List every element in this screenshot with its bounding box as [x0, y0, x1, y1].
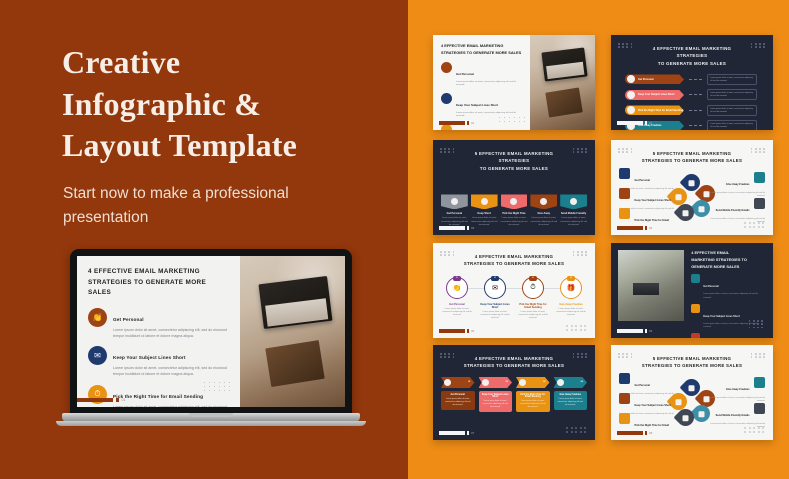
ring-item[interactable]: 01 👏 Get Personal Lorem ipsum dolor sit …	[441, 277, 473, 321]
dot-grid-decoration	[499, 117, 527, 122]
thumb3-title-line-1: 5 EFFECTIVE EMAIL MARKETING STRATEGIES	[461, 150, 567, 165]
thumb5-title-line-1: 4 EFFECTIVE EMAIL MARKETING	[463, 253, 565, 260]
featured-slide-title-line-2: STRATEGIES TO GENERATE MORE SALES	[88, 278, 230, 299]
ring-title: Give Away Freebies	[555, 303, 587, 306]
list-item: Get Personal Lorem ipsum dolor sit amet,…	[691, 274, 766, 299]
thumb2-title-line-1: 4 EFFECTIVE EMAIL MARKETING STRATEGIES	[641, 45, 743, 60]
progress-bar-tick	[645, 431, 647, 435]
mobile-icon	[754, 198, 765, 209]
thumbnail-5-title: 4 EFFECTIVE EMAIL MARKETING STRATEGIES T…	[441, 249, 587, 268]
left-item-3[interactable]: Pick the Right Time for Email Sending Lo…	[619, 413, 677, 440]
ribbon-item[interactable]: Keep Short Lorem ipsum dolor sit amet, c…	[471, 187, 498, 227]
page-number: 07	[471, 431, 474, 435]
mobile-icon	[683, 415, 689, 421]
handshake-icon	[689, 180, 695, 186]
ribbon-body: Lorem ipsum dolor sit amet, consectetur …	[560, 217, 587, 227]
ribbon-banner	[441, 194, 468, 209]
handshake-icon	[627, 75, 635, 83]
arrow-body: Lorem ipsum dolor sit amet, consectetur …	[519, 400, 547, 409]
thumbnail-1-title: 4 EFFECTIVE EMAIL MARKETING STRATEGIES T…	[441, 43, 524, 57]
laptop-foot	[56, 421, 366, 426]
pill-row: Get Personal Lorem ipsum dolor sit amet,…	[625, 74, 757, 85]
ribbon-title: Pick the Right Time	[501, 212, 528, 215]
gift-icon	[557, 379, 564, 386]
step-number: 01	[468, 381, 470, 383]
ribbon-banner	[501, 194, 528, 209]
ribbon-item[interactable]: Give Away Lorem ipsum dolor sit amet, co…	[530, 187, 557, 227]
slide-footer-bar: 08	[617, 431, 652, 435]
photo-laptop-object	[542, 48, 588, 81]
progress-bar	[77, 398, 113, 403]
thumbnail-grid: 4 EFFECTIVE EMAIL MARKETING STRATEGIES T…	[408, 0, 789, 479]
thumbnail-1[interactable]: 4 EFFECTIVE EMAIL MARKETING STRATEGIES T…	[433, 35, 595, 130]
progress-bar-tick	[116, 398, 119, 403]
list-item-body: Lorem ipsum dolor sit amet, consectetur …	[703, 293, 766, 299]
ring-circle: 04 🎁	[560, 277, 582, 299]
arrow-body: Lorem ipsum dolor sit amet, consectetur …	[482, 400, 510, 409]
thumbnail-2-title: 4 EFFECTIVE EMAIL MARKETING STRATEGIES T…	[619, 41, 765, 67]
arrow-box: Pick the Right Time for Email Sending Lo…	[516, 391, 550, 412]
hero-title-line-2: Infographic &	[62, 84, 392, 126]
progress-bar	[617, 121, 643, 125]
pill-item[interactable]: Get Personal	[625, 74, 684, 84]
desk-with-laptop-photo	[530, 35, 595, 130]
dot-grid-decoration	[573, 251, 588, 256]
mobile-icon	[683, 210, 689, 216]
hero-title-line-1: Creative	[62, 42, 392, 84]
laptop-screen: 4 EFFECTIVE EMAIL MARKETING STRATEGIES T…	[77, 256, 345, 407]
ring-body: Lorem ipsum dolor sit amet, consectetur …	[517, 311, 549, 321]
mail-icon	[482, 379, 489, 386]
thumb6-title-line-2: MARKETING STRATEGIES TO	[691, 257, 766, 264]
thumb7-title-line-1: 4 EFFECTIVE EMAIL MARKETING	[463, 355, 565, 362]
right-item-1[interactable]: Give Away Freebies Lorem ipsum dolor sit…	[707, 172, 765, 198]
list-item-title: Get Personal	[456, 72, 474, 76]
ring-item[interactable]: 03 ⏱ Pick the Right Time for Email Sendi…	[517, 277, 549, 321]
thumbnail-3[interactable]: 5 EFFECTIVE EMAIL MARKETING STRATEGIES T…	[433, 140, 595, 235]
arrow-item[interactable]: 04 Give Away Freebies Lorem ipsum dolor …	[554, 377, 588, 412]
ribbon-title: Give Away	[530, 212, 557, 215]
ring-title: Get Personal	[441, 303, 473, 306]
dot-grid-decoration	[618, 43, 633, 48]
item-title: Get Personal	[634, 384, 649, 387]
list-item-body: Lorem ipsum dolor sit amet, consectetur …	[456, 81, 524, 88]
clock-icon	[627, 106, 635, 114]
desk-with-laptop-photo	[240, 256, 345, 407]
hero-title-line-3: Layout Template	[62, 125, 392, 167]
thumb8-title-line-2: STRATEGIES TO GENERATE MORE SALES	[641, 362, 743, 369]
progress-bar	[439, 226, 465, 230]
text-box-body: Lorem ipsum dolor sit amet, consectetur …	[710, 123, 754, 129]
progress-bar-tick	[467, 121, 469, 125]
slide-footer-bar: 06	[617, 329, 652, 333]
slide-footer-bar: 05	[439, 329, 474, 333]
mail-icon: ✉	[88, 346, 107, 365]
ribbon-banner	[471, 194, 498, 209]
clock-icon	[691, 333, 700, 338]
thumb8-title-line-1: 5 EFFECTIVE EMAIL MARKETING	[641, 355, 743, 362]
progress-bar	[617, 329, 643, 333]
page-number: 01	[122, 398, 126, 402]
ribbon-title: Send Mobile Friendly	[560, 212, 587, 215]
ribbon-banner	[560, 194, 587, 209]
page-number: 03	[471, 226, 474, 230]
clock-icon	[510, 198, 517, 205]
mail-icon	[691, 304, 700, 313]
arrow-row: 01 Get Personal Lorem ipsum dolor sit am…	[441, 377, 587, 412]
dot-grid-decoration	[440, 251, 455, 256]
item-body: Lorem ipsum dolor sit amet, consectetur …	[707, 397, 765, 403]
progress-bar	[439, 329, 465, 333]
mail-icon	[481, 198, 488, 205]
mobile-icon	[754, 403, 765, 414]
arrow-box: Keep Your Subject Lines Short Lorem ipsu…	[479, 391, 513, 412]
progress-bar	[617, 226, 643, 230]
slide-footer-bar: 01	[77, 398, 126, 403]
progress-bar-tick	[645, 329, 647, 333]
list-item-title: Keep Your Subject Lines Short	[703, 315, 739, 318]
list-item-body: Lorem ipsum dolor sit amet, consectetur …	[113, 366, 230, 378]
pill-row: Pick the Right Time for Email Sending Lo…	[625, 105, 757, 116]
ring-title: Keep Your Subject Lines Short	[479, 303, 511, 309]
mail-icon	[627, 91, 635, 99]
dot-grid-decoration	[573, 353, 588, 358]
thumbnail-7-title: 4 EFFECTIVE EMAIL MARKETING STRATEGIES T…	[441, 351, 587, 370]
thumb1-title-line-1: 4 EFFECTIVE EMAIL MARKETING	[441, 43, 524, 50]
step-number: 02	[506, 381, 508, 383]
photo-book-object	[545, 88, 582, 118]
text-box: Lorem ipsum dolor sit amet, consectetur …	[707, 120, 757, 130]
arrow-title: Keep Your Subject Lines Short	[482, 394, 510, 398]
dot-grid-decoration	[751, 148, 766, 153]
handshake-icon	[691, 274, 700, 283]
ribbon-banner	[530, 194, 557, 209]
list-item: Pick the Right Time for Email Sending Lo…	[691, 333, 766, 338]
handshake-icon	[451, 198, 458, 205]
progress-bar	[617, 431, 643, 435]
step-number: 02	[491, 276, 499, 281]
dot-signature-decoration	[744, 222, 765, 228]
text-box-body: Lorem ipsum dolor sit amet, consectetur …	[710, 108, 754, 114]
mail-icon: ✉	[492, 284, 498, 292]
page-number: 08	[649, 431, 652, 435]
left-hero-panel: Creative Infographic & Layout Template S…	[0, 0, 408, 479]
progress-bar-tick	[645, 226, 647, 230]
thumbnail-7[interactable]: 4 EFFECTIVE EMAIL MARKETING STRATEGIES T…	[433, 345, 595, 440]
right-item-2[interactable]: Send Mobile Friendly Emails Lorem ipsum …	[707, 198, 765, 224]
list-item-body: Lorem ipsum dolor sit amet, consectetur …	[113, 405, 230, 407]
text-box-body: Lorem ipsum dolor sit amet, consectetur …	[710, 77, 754, 83]
item-title: Send Mobile Friendly Emails	[716, 209, 750, 212]
ribbon-body: Lorem ipsum dolor sit amet, consectetur …	[471, 217, 498, 227]
progress-bar	[439, 121, 465, 125]
gift-icon	[699, 411, 705, 417]
pill-label: Keep Your Subject Lines Short	[638, 93, 674, 96]
slide-footer-bar: 03	[439, 226, 474, 230]
mail-icon	[619, 188, 630, 199]
hero-subtitle: Start now to make a professional present…	[63, 182, 363, 229]
ribbon-title: Get Personal	[441, 212, 468, 215]
ring-circle: 02 ✉	[484, 277, 506, 299]
arrow-title: Get Personal	[444, 394, 472, 396]
thumb3-title-line-2: TO GENERATE MORE SALES	[461, 165, 567, 172]
step-number: 01	[453, 276, 461, 281]
arrow-title: Give Away Freebies	[557, 394, 585, 396]
photo-book-object	[265, 340, 325, 387]
dot-grid-decoration	[618, 353, 633, 358]
strategy-list: 👏 Get Personal Lorem ipsum dolor sit ame…	[88, 308, 230, 407]
pill-label: Get Personal	[638, 78, 653, 81]
thumbnail-6-title: 4 EFFECTIVE EMAIL MARKETING STRATEGIES T…	[691, 250, 766, 270]
list-item: Get Personal Lorem ipsum dolor sit amet,…	[441, 62, 524, 88]
mobile-icon	[570, 198, 577, 205]
ribbon-item[interactable]: Pick the Right Time Lorem ipsum dolor si…	[501, 194, 528, 227]
dot-grid-decoration	[751, 353, 766, 358]
laptop-lid: 4 EFFECTIVE EMAIL MARKETING STRATEGIES T…	[70, 249, 352, 416]
clock-icon	[619, 413, 630, 424]
text-box-body: Lorem ipsum dolor sit amet, consectetur …	[710, 92, 754, 98]
dot-grid-decoration	[440, 148, 455, 153]
arrow-item[interactable]: 01 Get Personal Lorem ipsum dolor sit am…	[441, 377, 475, 412]
page-number: 04	[649, 226, 652, 230]
step-number: 04	[567, 276, 575, 281]
handshake-icon: 👏	[88, 308, 107, 327]
list-item-title: Keep Your Subject Lines Short	[113, 355, 186, 360]
slide-footer-bar: 04	[617, 226, 652, 230]
item-title: Send Mobile Friendly Emails	[716, 414, 750, 417]
list-item: 👏 Get Personal Lorem ipsum dolor sit ame…	[88, 308, 230, 340]
progress-bar-tick	[645, 121, 647, 125]
dot-signature-decoration	[566, 325, 587, 331]
list-item-title: Get Personal	[113, 317, 144, 322]
dot-grid-decoration	[204, 382, 232, 391]
ring-body: Lorem ipsum dolor sit amet, consectetur …	[479, 311, 511, 321]
featured-slide-content: 4 EFFECTIVE EMAIL MARKETING STRATEGIES T…	[77, 256, 240, 407]
thumbnail-6[interactable]: 4 EFFECTIVE EMAIL MARKETING STRATEGIES T…	[611, 243, 773, 338]
laptop-notch	[189, 413, 233, 417]
thumb4-title-line-2: STRATEGIES TO GENERATE MORE SALES	[641, 157, 743, 164]
ring-item[interactable]: 02 ✉ Keep Your Subject Lines Short Lorem…	[479, 277, 511, 321]
progress-bar-tick	[467, 431, 469, 435]
item-title: Keep Your Subject Lines Short	[634, 199, 670, 202]
dot-grid-decoration	[573, 148, 588, 153]
progress-bar-tick	[467, 226, 469, 230]
gift-icon	[540, 198, 547, 205]
thumb1-title-line-2: STRATEGIES TO GENERATE MORE SALES	[441, 50, 524, 57]
ribbon-body: Lorem ipsum dolor sit amet, consectetur …	[530, 217, 557, 227]
clock-icon	[519, 379, 526, 386]
arrow-title: Pick the Right Time for Email Sending	[519, 394, 547, 398]
thumb6-title-line-3: GENERATE MORE SALES	[691, 264, 766, 271]
ring-title: Pick the Right Time for Email Sending	[517, 303, 549, 309]
ribbon-row: Get Personal Lorem ipsum dolor sit amet,…	[441, 180, 587, 227]
arrow-body: Lorem ipsum dolor sit amet, consectetur …	[557, 398, 585, 407]
connector-line	[689, 79, 702, 80]
ring-body: Lorem ipsum dolor sit amet, consectetur …	[555, 308, 587, 318]
dot-signature-decoration	[566, 427, 587, 433]
ring-circle: 01 👏	[446, 277, 468, 299]
slide-footer-bar: 02	[617, 121, 652, 125]
page-number: 05	[471, 329, 474, 333]
right-item-2[interactable]: Send Mobile Friendly Emails Lorem ipsum …	[707, 403, 765, 429]
handshake-icon	[444, 379, 451, 386]
dot-grid-decoration	[440, 353, 455, 358]
connector-line	[456, 288, 573, 289]
thumbnail-4[interactable]: 5 EFFECTIVE EMAIL MARKETING STRATEGIES T…	[611, 140, 773, 235]
text-box: Lorem ipsum dolor sit amet, consectetur …	[707, 74, 757, 85]
text-box: Lorem ipsum dolor sit amet, consectetur …	[707, 105, 757, 116]
arrow-banner: 02	[479, 377, 513, 388]
mail-icon	[441, 93, 452, 104]
text-box: Lorem ipsum dolor sit amet, consectetur …	[707, 89, 757, 100]
slide-footer-bar: 07	[439, 431, 474, 435]
pill-label: Pick the Right Time for Email Sending	[638, 109, 683, 112]
thumbnail-8-title: 5 EFFECTIVE EMAIL MARKETING STRATEGIES T…	[619, 351, 765, 370]
laptop-mockup: 4 EFFECTIVE EMAIL MARKETING STRATEGIES T…	[62, 249, 360, 435]
item-title: Get Personal	[634, 179, 649, 182]
thumbnail-5[interactable]: 4 EFFECTIVE EMAIL MARKETING STRATEGIES T…	[433, 243, 595, 338]
left-item-3[interactable]: Pick the Right Time for Email Sending Lo…	[619, 208, 677, 235]
ring-body: Lorem ipsum dolor sit amet, consectetur …	[441, 308, 473, 318]
gift-icon: 🎁	[567, 284, 576, 292]
progress-bar-tick	[467, 329, 469, 333]
list-item-title: Get Personal	[703, 285, 718, 288]
pill-item[interactable]: Keep Your Subject Lines Short	[625, 90, 684, 100]
connector-line	[689, 110, 702, 111]
step-number: 03	[543, 381, 545, 383]
ring-item[interactable]: 04 🎁 Give Away Freebies Lorem ipsum dolo…	[555, 277, 587, 321]
list-item-title: Keep Your Subject Lines Short	[456, 103, 498, 107]
thumb2-title-line-2: TO GENERATE MORE SALES	[641, 60, 743, 67]
thumbnail-4-title: 5 EFFECTIVE EMAIL MARKETING STRATEGIES T…	[619, 146, 765, 165]
gift-icon	[699, 206, 705, 212]
right-item-1[interactable]: Give Away Freebies Lorem ipsum dolor sit…	[707, 377, 765, 403]
list-item-title: Pick the Right Time for Email Sending	[113, 394, 203, 399]
gift-icon	[754, 377, 765, 388]
arrow-banner: 04	[554, 377, 588, 388]
pill-item[interactable]: Pick the Right Time for Email Sending	[625, 105, 684, 115]
handshake-icon	[619, 373, 630, 384]
connector-line	[689, 94, 702, 95]
arrow-item[interactable]: 03 Pick the Right Time for Email Sending…	[516, 377, 550, 412]
ribbon-title: Keep Short	[471, 212, 498, 215]
thumbnail-2[interactable]: 4 EFFECTIVE EMAIL MARKETING STRATEGIES T…	[611, 35, 773, 130]
list-item: ✉ Keep Your Subject Lines Short Lorem ip…	[88, 346, 230, 378]
dot-grid-decoration	[749, 320, 764, 328]
dot-signature-decoration	[744, 427, 765, 433]
featured-slide-title-line-1: 4 EFFECTIVE EMAIL MARKETING	[88, 267, 230, 278]
thumb5-title-line-2: STRATEGIES TO GENERATE MORE SALES	[463, 260, 565, 267]
clock-icon	[619, 208, 630, 219]
item-body: Lorem ipsum dolor sit amet, consectetur …	[707, 192, 765, 198]
featured-slide-title: 4 EFFECTIVE EMAIL MARKETING STRATEGIES T…	[88, 267, 230, 299]
featured-slide-photo	[240, 256, 345, 407]
page-number: 01	[471, 121, 474, 125]
team-meeting-photo	[618, 250, 684, 321]
page-number: 06	[649, 329, 652, 333]
item-title: Give Away Freebies	[726, 388, 750, 391]
ribbon-item[interactable]: Send Mobile Friendly Lorem ipsum dolor s…	[560, 180, 587, 227]
item-title: Give Away Freebies	[726, 183, 750, 186]
ring-timeline: 01 👏 Get Personal Lorem ipsum dolor sit …	[441, 277, 587, 321]
clock-icon: ⏱	[530, 284, 535, 292]
page-title: Creative Infographic & Layout Template	[62, 42, 392, 167]
step-number: 04	[581, 381, 583, 383]
ribbon-body: Lorem ipsum dolor sit amet, consectetur …	[501, 217, 528, 227]
list-item-body: Lorem ipsum dolor sit amet, consectetur …	[113, 328, 230, 340]
handshake-icon	[441, 62, 452, 73]
arrow-item[interactable]: 02 Keep Your Subject Lines Short Lorem i…	[479, 377, 513, 412]
page-number: 02	[649, 121, 652, 125]
progress-bar	[439, 431, 465, 435]
photo-laptop-object	[259, 276, 333, 329]
dot-grid-decoration	[618, 148, 633, 153]
dot-grid-decoration	[751, 43, 766, 48]
thumb6-title-line-1: 4 EFFECTIVE EMAIL	[691, 250, 766, 257]
pill-row: Keep Your Subject Lines Short Lorem ipsu…	[625, 89, 757, 100]
ring-circle: 03 ⏱	[522, 277, 544, 299]
handshake-icon: 👏	[453, 284, 462, 292]
handshake-icon	[619, 168, 630, 179]
gift-icon	[754, 172, 765, 183]
arrow-body: Lorem ipsum dolor sit amet, consectetur …	[444, 398, 472, 407]
ribbon-item[interactable]: Get Personal Lorem ipsum dolor sit amet,…	[441, 180, 468, 227]
thumbnail-3-title: 5 EFFECTIVE EMAIL MARKETING STRATEGIES T…	[441, 146, 587, 172]
arrow-banner: 01	[441, 377, 475, 388]
thumb7-title-line-2: STRATEGIES TO GENERATE MORE SALES	[463, 362, 565, 369]
list-item: Keep Your Subject Lines Short Lorem ipsu…	[441, 93, 524, 119]
handshake-icon	[689, 385, 695, 391]
arrow-banner: 03	[516, 377, 550, 388]
slide-footer-bar: 01	[439, 121, 474, 125]
arrow-box: Get Personal Lorem ipsum dolor sit amet,…	[441, 391, 475, 410]
item-title: Keep Your Subject Lines Short	[634, 404, 670, 407]
arrow-box: Give Away Freebies Lorem ipsum dolor sit…	[554, 391, 588, 410]
thumb4-title-line-1: 5 EFFECTIVE EMAIL MARKETING	[641, 150, 743, 157]
step-number: 03	[529, 276, 537, 281]
thumbnail-8[interactable]: 5 EFFECTIVE EMAIL MARKETING STRATEGIES T…	[611, 345, 773, 440]
mail-icon	[619, 393, 630, 404]
connector-line	[689, 125, 702, 126]
